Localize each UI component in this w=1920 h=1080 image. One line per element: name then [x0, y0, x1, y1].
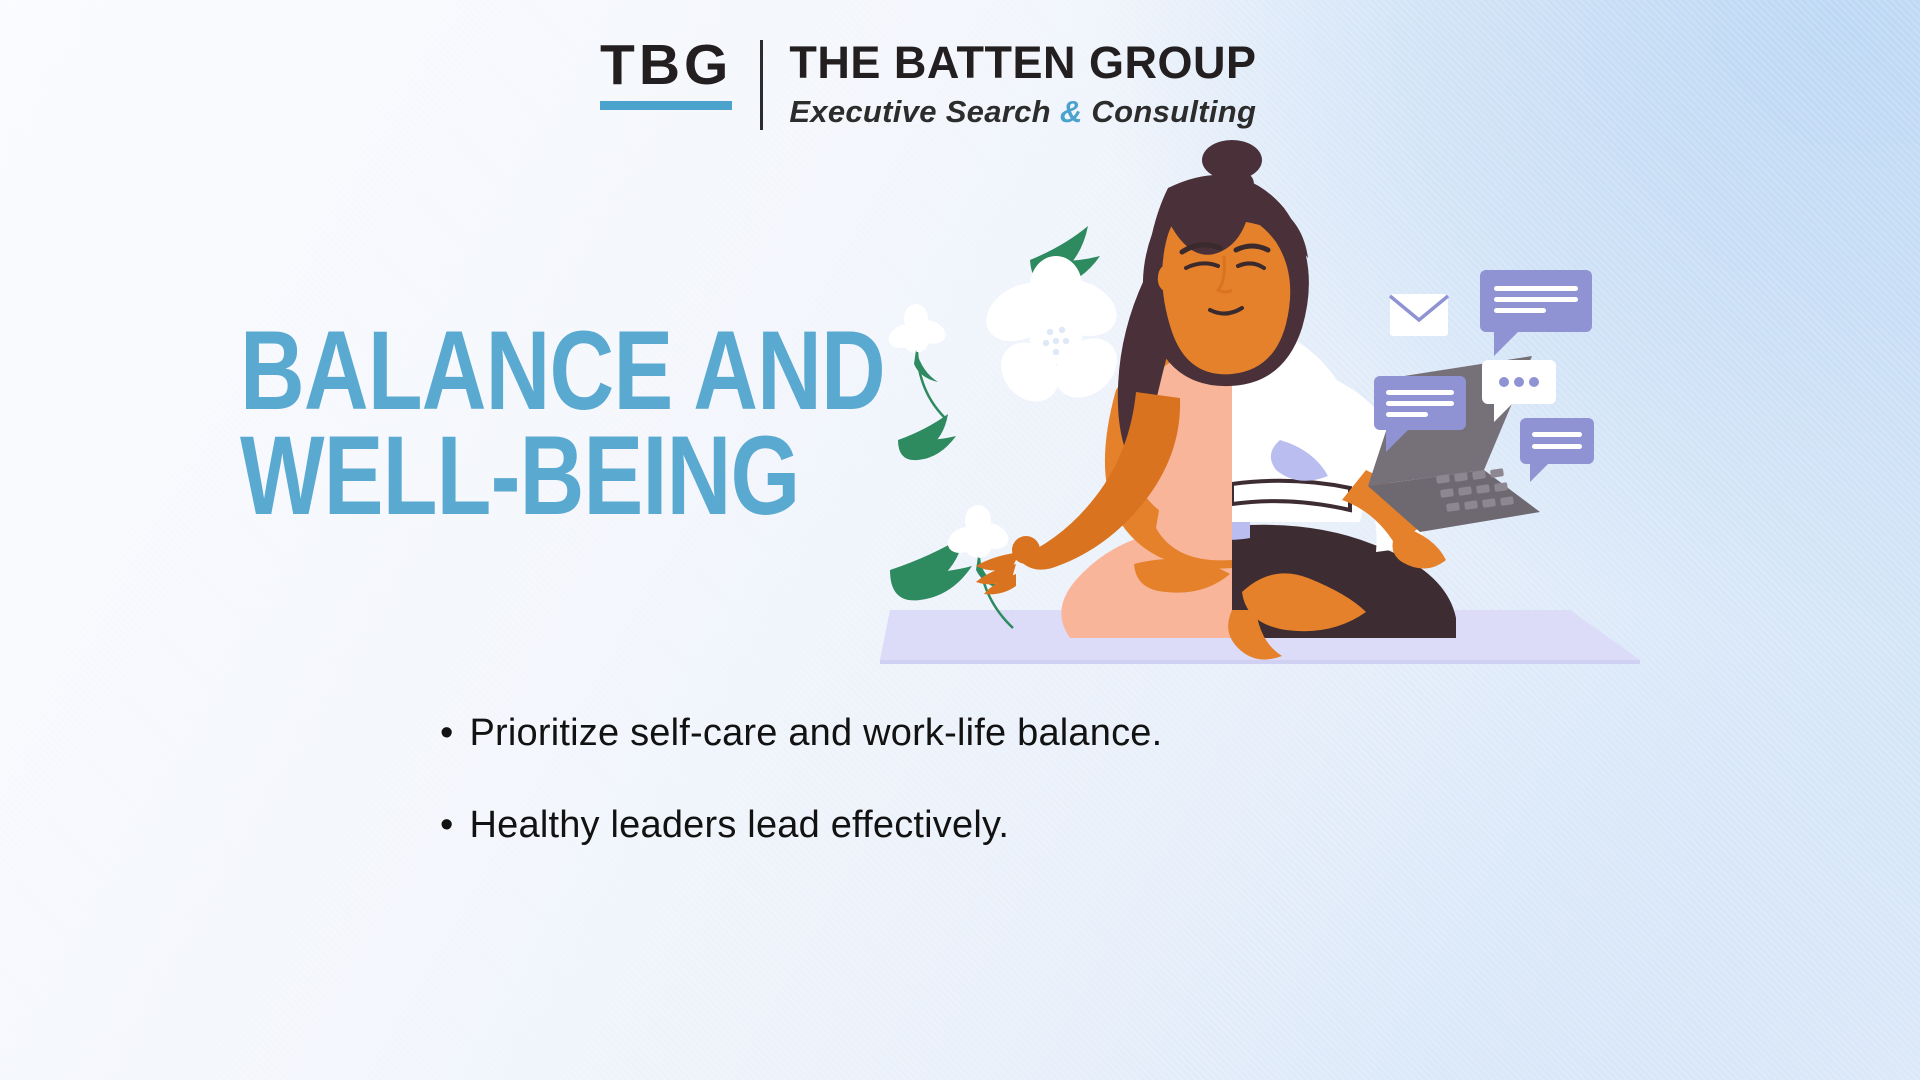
list-item: • Prioritize self-care and work-life bal…	[440, 712, 1500, 755]
headline-line-1: BALANCE AND	[240, 318, 885, 423]
list-item: • Healthy leaders lead effectively.	[440, 804, 1500, 847]
slide-canvas: TBG THE BATTEN GROUP Executive Search & …	[0, 0, 1920, 1080]
logo-tagline-before: Executive Search	[789, 94, 1059, 129]
bullet-text: Healthy leaders lead effectively.	[470, 804, 1010, 847]
envelope-icon	[1390, 294, 1448, 336]
bullet-marker-icon: •	[440, 714, 454, 752]
logo-divider	[760, 40, 763, 130]
page-title: BALANCE AND WELL-BEING	[240, 318, 1046, 529]
logo-tagline: Executive Search & Consulting	[789, 94, 1256, 130]
bullet-marker-icon: •	[440, 806, 454, 844]
logo-underline-rule	[600, 101, 732, 110]
logo-tagline-after: Consulting	[1083, 94, 1257, 129]
bullet-list: • Prioritize self-care and work-life bal…	[440, 712, 1500, 896]
logo-company-name: THE BATTEN GROUP	[789, 40, 1256, 85]
headline-line-2: WELL-BEING	[240, 423, 885, 528]
logo-monogram-block: TBG	[600, 38, 732, 110]
brand-logo: TBG THE BATTEN GROUP Executive Search & …	[600, 38, 1257, 130]
logo-monogram: TBG	[600, 38, 732, 92]
chat-bubble	[1520, 418, 1594, 482]
logo-tagline-ampersand: &	[1060, 94, 1083, 129]
chat-bubble	[1480, 270, 1592, 356]
logo-wordmark-block: THE BATTEN GROUP Executive Search & Cons…	[789, 38, 1256, 130]
bullet-text: Prioritize self-care and work-life balan…	[470, 712, 1163, 755]
